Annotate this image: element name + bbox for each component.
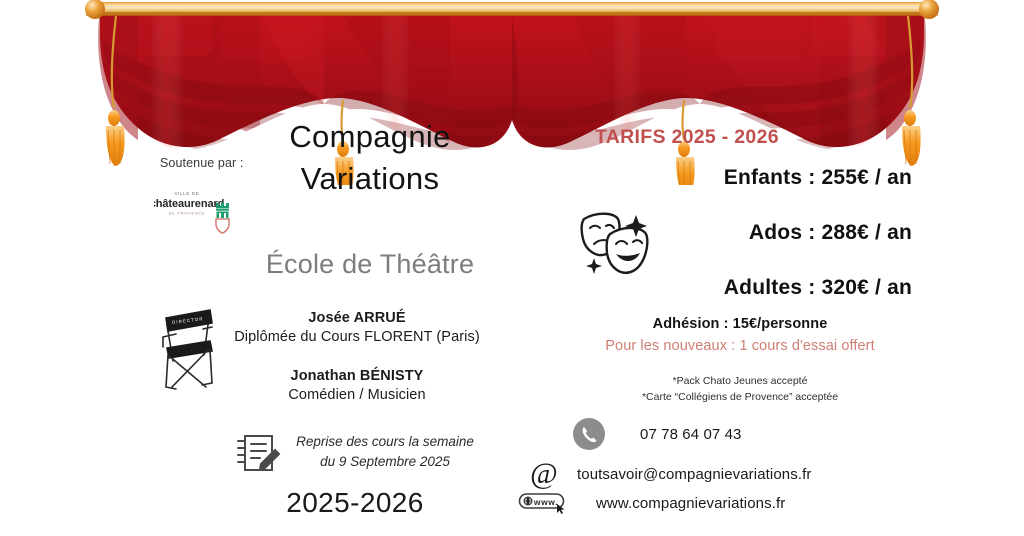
company-title: Compagnie Variations [250, 116, 490, 200]
chateaurenard-city-logo: VILLE DE châteaurenard DE PROVENCE [154, 186, 250, 236]
supported-by-label: Soutenue par : [160, 156, 243, 170]
staff-entry: Jonathan BÉNISTY Comédien / Musicien [212, 368, 502, 403]
phone-number: 07 78 64 07 43 [640, 426, 742, 443]
website-url: www.compagnievariations.fr [596, 495, 785, 512]
staff-name: Jonathan BÉNISTY [212, 368, 502, 384]
membership-fee: Adhésion : 15€/personne [560, 316, 920, 332]
company-title-line2: Variations [250, 158, 490, 200]
staff-role: Diplômée du Cours FLORENT (Paris) [212, 329, 502, 345]
staff-name: Josée ARRUÉ [212, 310, 502, 326]
logo-top-line: VILLE DE [175, 191, 200, 196]
poster-canvas: Soutenue par : VILLE DE châteaurenard DE… [0, 0, 1024, 536]
phone-icon [572, 417, 606, 451]
tarifs-heading: TARIFS 2025 - 2026 [595, 126, 779, 149]
www-icon-text: www. [533, 497, 558, 507]
reprise-line1: Reprise des cours la semaine [285, 432, 485, 452]
contact-email-row[interactable]: @ toutsavoir@compagnievariations.fr [528, 458, 811, 490]
left-column: Soutenue par : VILLE DE châteaurenard DE… [100, 0, 500, 536]
logo-bottom-line: DE PROVENCE [169, 211, 206, 216]
contact-phone-row[interactable]: 07 78 64 07 43 [572, 417, 742, 451]
at-sign-icon: @ [528, 458, 560, 490]
logo-shield-emblem [216, 203, 229, 234]
reprise-line2: du 9 Septembre 2025 [285, 452, 485, 472]
staff-role: Comédien / Musicien [212, 387, 502, 403]
www-browser-icon: www. [518, 491, 570, 515]
contact-website-row[interactable]: www. www.compagnievariations.fr [518, 491, 785, 515]
price-row-enfants: Enfants : 255€ / an [570, 166, 930, 190]
company-title-line1: Compagnie [250, 116, 490, 158]
price-row-ados: Ados : 288€ / an [570, 221, 930, 245]
price-row-adultes: Adultes : 320€ / an [570, 276, 930, 300]
newcomers-offer: Pour les nouveaux : 1 cours d'essai offe… [560, 338, 920, 354]
reprise-note: Reprise des cours la semaine du 9 Septem… [285, 432, 485, 471]
accepted-passes-notes: *Pack Chato Jeunes accepté *Carte “Collé… [560, 373, 920, 406]
school-type-heading: École de Théâtre [230, 249, 510, 280]
season-year: 2025-2026 [210, 487, 500, 519]
svg-text:@: @ [530, 458, 558, 490]
email-address: toutsavoir@compagnievariations.fr [577, 466, 811, 483]
note-line2: *Carte “Collégiens de Provence” acceptée [560, 389, 920, 405]
right-column: TARIFS 2025 - 2026 [510, 0, 930, 536]
note-line1: *Pack Chato Jeunes accepté [560, 373, 920, 389]
staff-entry: Josée ARRUÉ Diplômée du Cours FLORENT (P… [212, 310, 502, 345]
logo-main-line: châteaurenard [154, 198, 224, 210]
notepad-pen-icon [232, 429, 282, 477]
